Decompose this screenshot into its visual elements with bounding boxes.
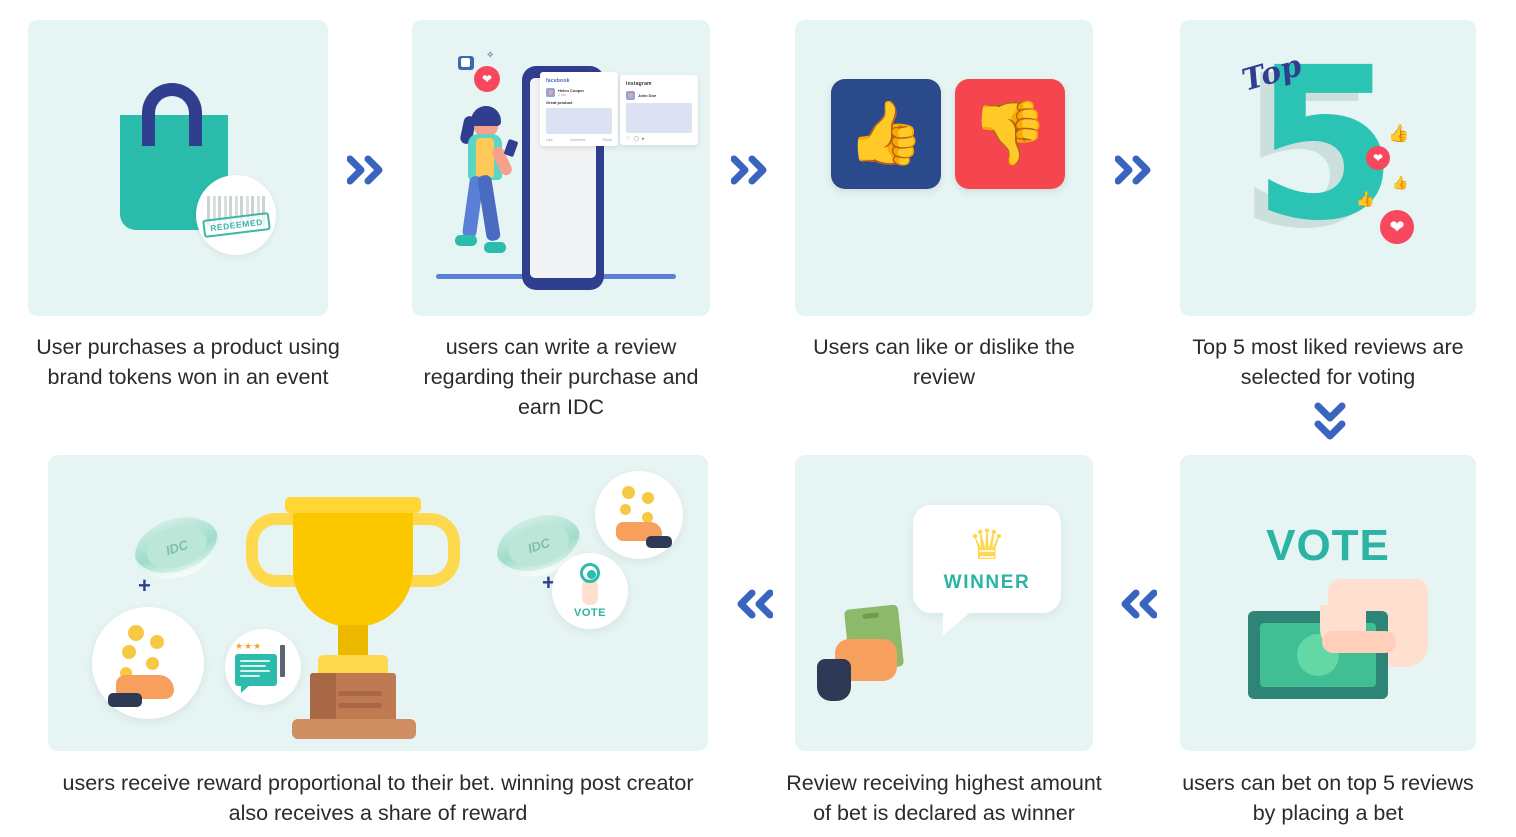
chevron-down-icon [1313, 401, 1347, 445]
crown-icon: ♛ [968, 524, 1006, 566]
shopping-bag-illustration: REDEEMED [28, 20, 328, 316]
person-shoe-left [455, 235, 477, 246]
thumbs-up-icon: 👍 [1392, 175, 1408, 191]
gold-coin [146, 657, 159, 670]
arrow-left-5 [1112, 582, 1160, 626]
floating-thumbs-up-icon [458, 56, 474, 70]
gold-coin [128, 625, 144, 641]
gold-coin [622, 486, 635, 499]
instagram-brand-label: instagram [626, 81, 692, 87]
plus-icon: + [138, 573, 151, 599]
avatar [626, 91, 635, 100]
process-flow-diagram: REDEEMED User purchases a product using … [0, 0, 1516, 837]
review-lines [240, 660, 270, 680]
thumbs-up-icon: 👍 [1388, 124, 1409, 144]
thumbs-up-icon[interactable]: 👍 [831, 79, 941, 189]
pen-icon [280, 645, 285, 677]
sparkle-icon: ✧ [486, 50, 494, 61]
facebook-post-text: Great product [546, 100, 612, 105]
gold-coin [150, 635, 164, 649]
step-top5-caption: Top 5 most liked reviews are selected fo… [1168, 332, 1488, 392]
chevron-right-glyph [347, 155, 389, 185]
held-phone-icon [504, 139, 519, 157]
step-reward-caption: users receive reward proportional to the… [48, 768, 708, 828]
step-reward-panel: IDC + IDC + [48, 455, 708, 751]
step-winner-caption: Review receiving highest amount of bet i… [785, 768, 1103, 828]
facebook-card-actions: Like Comment Share [546, 138, 612, 142]
vote-label: VOTE [574, 607, 606, 619]
redeemed-badge: REDEEMED [196, 175, 276, 255]
heart-glyph: ❤ [482, 73, 492, 85]
winner-label: WINNER [944, 572, 1031, 594]
chevron-left-icon [1115, 589, 1157, 619]
step-write-review-caption: users can write a review regarding their… [400, 332, 722, 422]
facebook-timestamp: 2 hrs [558, 93, 584, 97]
facebook-card-user: Helen Cooper 2 hrs [546, 88, 612, 97]
hand-with-coins-icon [595, 471, 683, 559]
trophy-handle-right [406, 513, 460, 587]
review-illustration: ✧ ❤ facebook Helen Cooper 2 hrs Great pr… [412, 20, 710, 316]
step-like-dislike-caption: Users can like or dislike the review [785, 332, 1103, 392]
step-winner-panel: ♛ WINNER [795, 455, 1093, 751]
trophy-engrave-line [338, 703, 382, 708]
heart-icon: ❤ [1380, 210, 1414, 244]
floating-heart-icon: ❤ [474, 66, 500, 92]
step-write-review-panel: ✧ ❤ facebook Helen Cooper 2 hrs Great pr… [412, 20, 710, 316]
step-purchase-panel: REDEEMED [28, 20, 328, 316]
chevron-right-icon [731, 155, 773, 185]
facebook-like-action[interactable]: Like [546, 138, 553, 142]
step-bet-caption: users can bet on top 5 reviews by placin… [1168, 768, 1488, 828]
facebook-share-action[interactable]: Share [602, 138, 612, 142]
sleeve-cuff [646, 536, 672, 548]
vote-tap-icon: VOTE [552, 553, 628, 629]
trophy-foot [292, 719, 416, 739]
chevron-left-icon [731, 589, 773, 619]
gold-coin [620, 504, 631, 515]
arrow-down-4 [1306, 398, 1354, 448]
top5-illustration: 5 Top 👍 ❤ 👍 👍 ❤ [1180, 20, 1476, 316]
instagram-post-card: instagram John Doe ♡ ◯ ▸ [620, 75, 698, 145]
bag-handle [142, 83, 202, 143]
bet-illustration: VOTE [1180, 455, 1476, 751]
instagram-comment-icon[interactable]: ◯ [633, 136, 639, 142]
review-card-icon: ★★★ [225, 629, 301, 705]
trophy-engrave-line [338, 691, 382, 696]
review-bubble [235, 654, 277, 686]
person-hair [471, 106, 501, 126]
facebook-comment-action[interactable]: Comment [570, 138, 586, 142]
facebook-brand-label: facebook [546, 78, 612, 84]
like-dislike-illustration: 👍 👎 [795, 20, 1093, 316]
tap-ring-icon [580, 563, 600, 583]
hand-fingers [1322, 631, 1396, 653]
chevron-right-icon [1115, 155, 1157, 185]
chevron-right-icon [347, 155, 389, 185]
arrow-right-3 [1112, 148, 1160, 192]
avatar [546, 88, 555, 97]
hand-with-coins-icon [92, 607, 204, 719]
speech-bubble-icon: ♛ WINNER [913, 505, 1061, 613]
person-leg-right [477, 174, 501, 241]
sleeve-cuff [108, 693, 142, 707]
instagram-heart-icon[interactable]: ♡ [626, 136, 630, 142]
banknote-icon [1248, 611, 1388, 699]
gold-coin [122, 645, 136, 659]
idc-coin-label: IDC [141, 518, 212, 575]
person-shoe-right [484, 242, 506, 253]
arrow-right-2 [728, 148, 776, 192]
trophy-stem [338, 625, 368, 659]
trophy-handle-left [246, 513, 300, 587]
reward-illustration: IDC + IDC + [48, 455, 708, 751]
trophy-rim [285, 497, 421, 513]
instagram-share-icon[interactable]: ▸ [642, 136, 645, 142]
gold-coin [642, 492, 654, 504]
vote-label: VOTE [1180, 521, 1476, 571]
step-like-dislike-panel: 👍 👎 [795, 20, 1093, 316]
instagram-card-user: John Doe [626, 91, 692, 100]
step-bet-panel: VOTE [1180, 455, 1476, 751]
trophy-base-shadow [310, 673, 336, 723]
heart-icon: ❤ [1366, 146, 1390, 170]
sleeve-cuff [817, 659, 851, 701]
instagram-card-actions: ♡ ◯ ▸ [626, 136, 692, 142]
step-purchase-caption: User purchases a product using brand tok… [28, 332, 348, 392]
arrow-left-6 [728, 582, 776, 626]
trophy-icon [293, 505, 413, 627]
thumbs-down-icon[interactable]: 👎 [955, 79, 1065, 189]
instagram-post-image [626, 103, 692, 133]
arrow-right-1 [344, 148, 392, 192]
person-vest [476, 138, 494, 178]
thumbs-up-icon: 👍 [1356, 190, 1375, 208]
facebook-post-image [546, 108, 612, 134]
facebook-post-card: facebook Helen Cooper 2 hrs Great produc… [540, 72, 618, 146]
instagram-username: John Doe [638, 93, 656, 98]
step-top5-panel: 5 Top 👍 ❤ 👍 👍 ❤ [1180, 20, 1476, 316]
winner-illustration: ♛ WINNER [795, 455, 1093, 751]
